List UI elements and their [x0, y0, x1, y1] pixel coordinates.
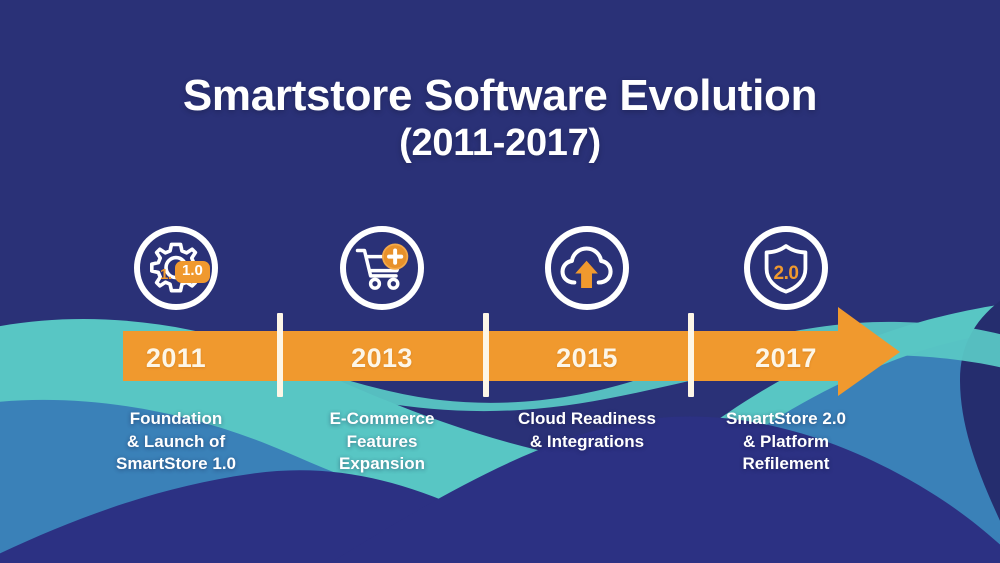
- shopping-cart-plus-icon[interactable]: [340, 226, 424, 310]
- milestone-year-2013: 2013: [282, 343, 482, 374]
- milestone-year-2015: 2015: [487, 343, 687, 374]
- title-line-2: (2011-2017): [0, 120, 1000, 166]
- gear-version-badge: 1.0: [175, 261, 210, 283]
- shield-version-label: 2.0: [750, 263, 822, 285]
- shopping-cart-icon-glyph: [354, 240, 410, 296]
- cloud-upload-icon-glyph: [558, 239, 616, 297]
- milestone-year-2011: 2011: [76, 343, 276, 374]
- cloud-upload-icon[interactable]: [545, 226, 629, 310]
- milestone-caption-2015: Cloud Readiness & Integrations: [487, 408, 687, 453]
- milestone-caption-2017: SmartStore 2.0 & Platform Refilement: [686, 408, 886, 476]
- title-line-1: Smartstore Software Evolution: [0, 72, 1000, 120]
- gear-icon[interactable]: 1. 1.0: [134, 226, 218, 310]
- slide-canvas: Smartstore Software Evolution (2011-2017…: [0, 0, 1000, 563]
- slide-title: Smartstore Software Evolution (2011-2017…: [0, 72, 1000, 166]
- milestone-caption-2013: E-Commerce Features Expansion: [282, 408, 482, 476]
- shield-icon[interactable]: 2.0: [744, 226, 828, 310]
- milestone-caption-2011: Foundation & Launch of SmartStore 1.0: [76, 408, 276, 476]
- gear-version-label: 1.: [160, 266, 172, 283]
- milestone-year-2017: 2017: [686, 343, 886, 374]
